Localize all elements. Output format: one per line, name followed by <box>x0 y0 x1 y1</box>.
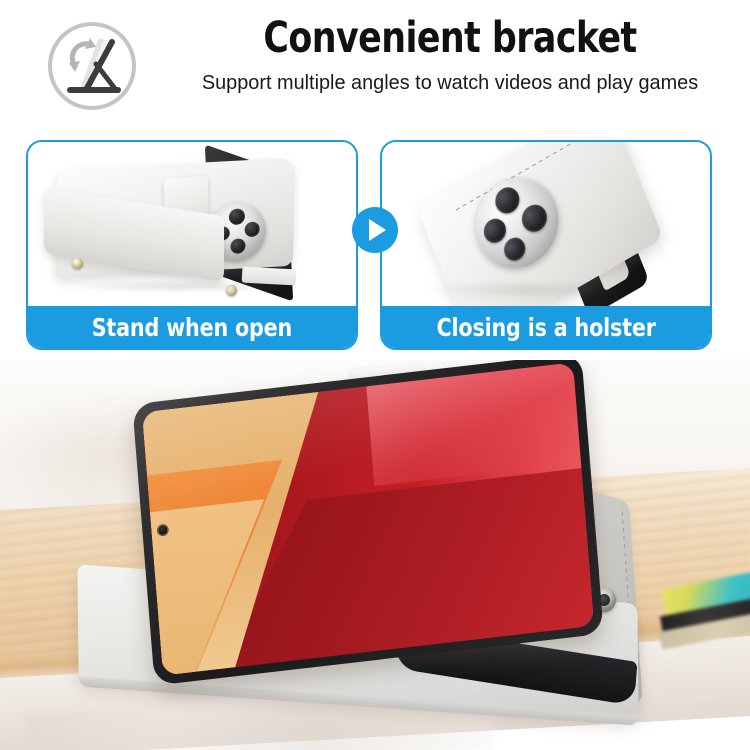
camera-lens <box>492 183 523 218</box>
camera-lens <box>230 238 246 255</box>
panel-caption-bar-closed-holster: Closing is a holster <box>382 306 710 348</box>
feature-panel-closed-holster: Closing is a holster <box>380 140 712 350</box>
feature-panel-stand-open: Stand when open <box>26 140 358 350</box>
panel-caption-label: Closing is a holster <box>436 313 655 342</box>
header-text-block: Convenient bracket Support multiple angl… <box>160 12 740 96</box>
product-feature-banner: Convenient bracket Support multiple angl… <box>0 0 750 750</box>
page-subtitle: Support multiple angles to watch videos … <box>169 70 732 96</box>
phone-body <box>132 360 604 686</box>
panel-caption-label: Stand when open <box>92 313 292 342</box>
panel-photo-closed-holster <box>382 142 710 310</box>
panel-photo-stand-open <box>28 142 356 310</box>
adjustable-stand-icon <box>44 18 140 114</box>
camera-lens <box>518 200 551 236</box>
hero-product-photo <box>0 360 750 750</box>
case-rivet <box>72 258 83 269</box>
panel-caption-bar-stand-open: Stand when open <box>28 306 356 348</box>
header: Convenient bracket Support multiple angl… <box>0 0 750 130</box>
camera-lens <box>501 234 529 265</box>
camera-lens <box>244 221 260 238</box>
phone-screen <box>142 362 594 675</box>
page-title: Convenient bracket <box>189 12 711 64</box>
drop-shadow <box>62 280 292 292</box>
drop-shadow <box>422 282 632 298</box>
phone-device <box>132 360 604 686</box>
play-triangle-glyph <box>369 219 386 241</box>
play-icon[interactable] <box>352 207 398 253</box>
screen-glare <box>142 362 594 675</box>
camera-lens <box>228 208 245 226</box>
